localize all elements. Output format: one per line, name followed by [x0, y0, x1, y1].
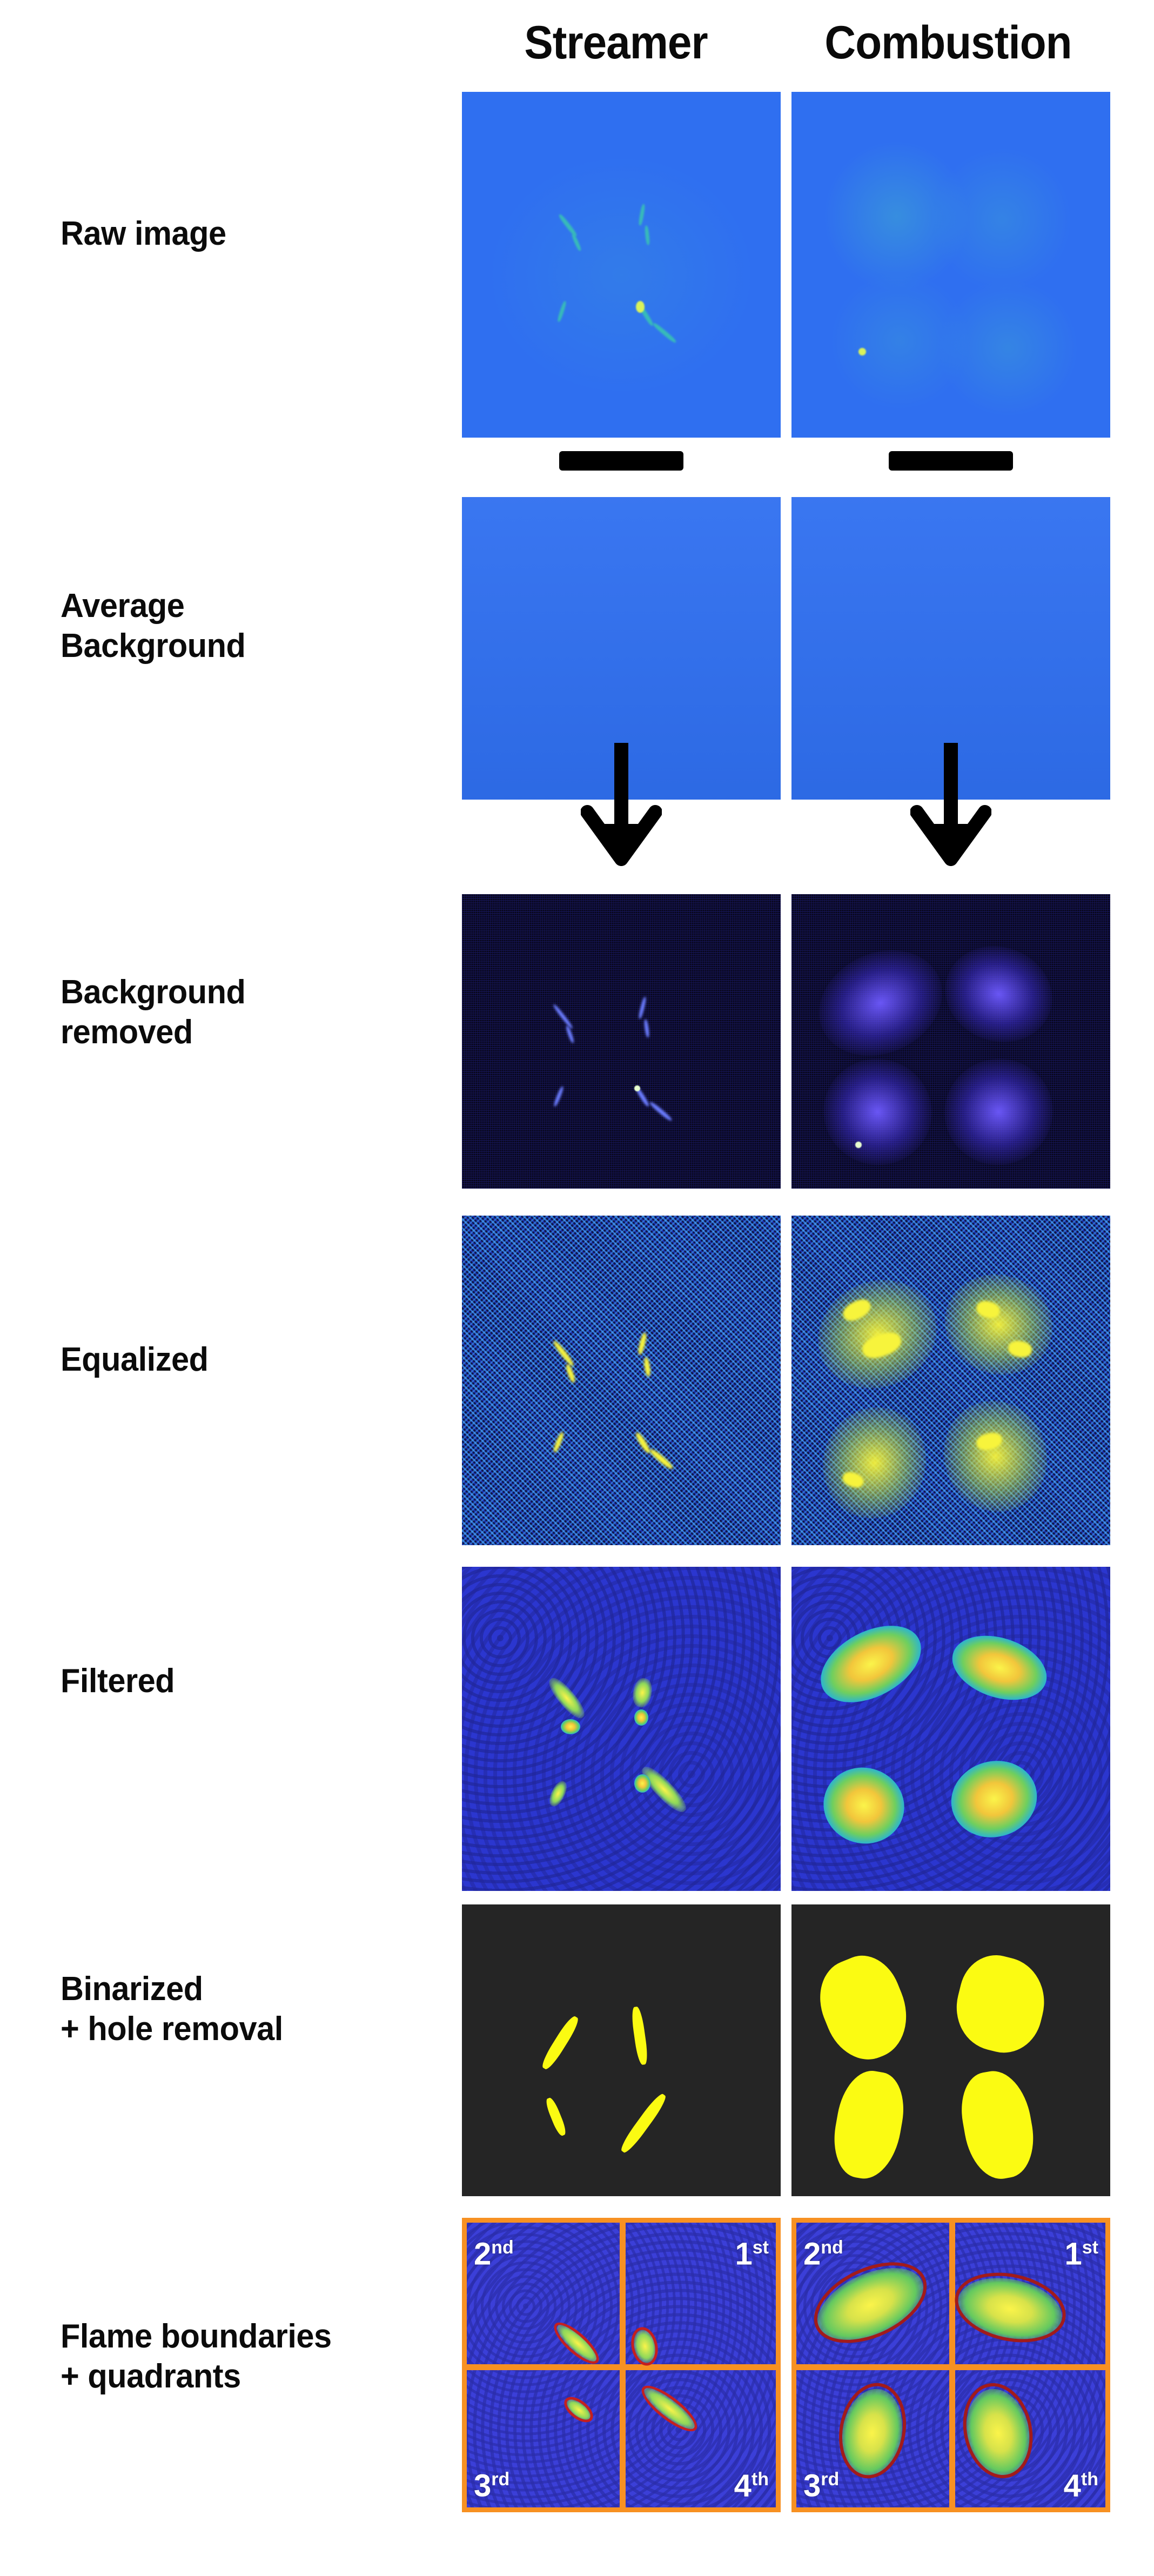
column-header-streamer: Streamer — [462, 13, 769, 72]
panel-equalized-streamer — [462, 1216, 781, 1545]
row-label-raw-image: Raw image — [61, 214, 434, 254]
panel-binarized-combustion — [791, 1904, 1110, 2196]
row-label-average-background-line2: Background — [61, 626, 434, 666]
panel-raw-streamer — [462, 92, 781, 438]
quadrant-label-fourth-streamer: 4th — [734, 2464, 769, 2501]
row-label-binarized-line2: + hole removal — [61, 2009, 434, 2049]
quadrant-label-third-streamer: 3rd — [474, 2464, 509, 2501]
row-label-flame-boundaries-line2: + quadrants — [61, 2357, 434, 2397]
row-label-binarized: Binarized + hole removal — [61, 1969, 434, 2049]
panel-background-removed-combustion — [791, 894, 1110, 1189]
row-label-filtered: Filtered — [61, 1661, 434, 1701]
row-label-background-removed: Background removed — [61, 972, 434, 1052]
subtract-operator-streamer — [559, 451, 683, 471]
processing-pipeline-figure: Streamer Combustion Raw image Average — [0, 0, 1154, 2576]
quadrant-label-first-combustion: 1st — [1065, 2232, 1099, 2270]
row-label-background-removed-line2: removed — [61, 1012, 434, 1052]
panel-filtered-streamer — [462, 1567, 781, 1891]
panel-flame-boundaries-streamer: 2nd 1st 3rd 4th — [462, 2218, 781, 2512]
row-label-average-background: Average Background — [61, 586, 434, 666]
row-label-average-background-line1: Average — [61, 586, 434, 626]
panel-background-removed-streamer — [462, 894, 781, 1189]
row-label-background-removed-line1: Background — [61, 972, 434, 1012]
quadrant-label-second-streamer: 2nd — [474, 2232, 514, 2270]
row-label-flame-boundaries: Flame boundaries + quadrants — [61, 2317, 434, 2397]
quadrant-label-third-combustion: 3rd — [803, 2464, 839, 2501]
down-arrow-icon-combustion — [910, 743, 991, 867]
quadrant-gridline-vertical-combustion — [949, 2218, 955, 2512]
panel-equalized-combustion — [791, 1216, 1110, 1545]
panel-raw-combustion — [791, 92, 1110, 438]
panel-filtered-combustion — [791, 1567, 1110, 1891]
panel-binarized-streamer — [462, 1904, 781, 2196]
quadrant-label-fourth-combustion: 4th — [1064, 2464, 1098, 2501]
quadrant-label-first-streamer: 1st — [735, 2232, 769, 2270]
row-label-equalized: Equalized — [61, 1340, 434, 1380]
subtract-operator-combustion — [889, 451, 1013, 471]
panel-flame-boundaries-combustion: 2nd 1st 3rd 4th — [791, 2218, 1110, 2512]
down-arrow-icon-streamer — [581, 743, 662, 867]
quadrant-gridline-vertical-streamer — [620, 2218, 626, 2512]
column-header-combustion: Combustion — [795, 13, 1101, 72]
quadrant-label-second-combustion: 2nd — [803, 2232, 843, 2270]
row-label-binarized-line1: Binarized — [61, 1969, 434, 2009]
row-label-flame-boundaries-line1: Flame boundaries — [61, 2317, 434, 2357]
